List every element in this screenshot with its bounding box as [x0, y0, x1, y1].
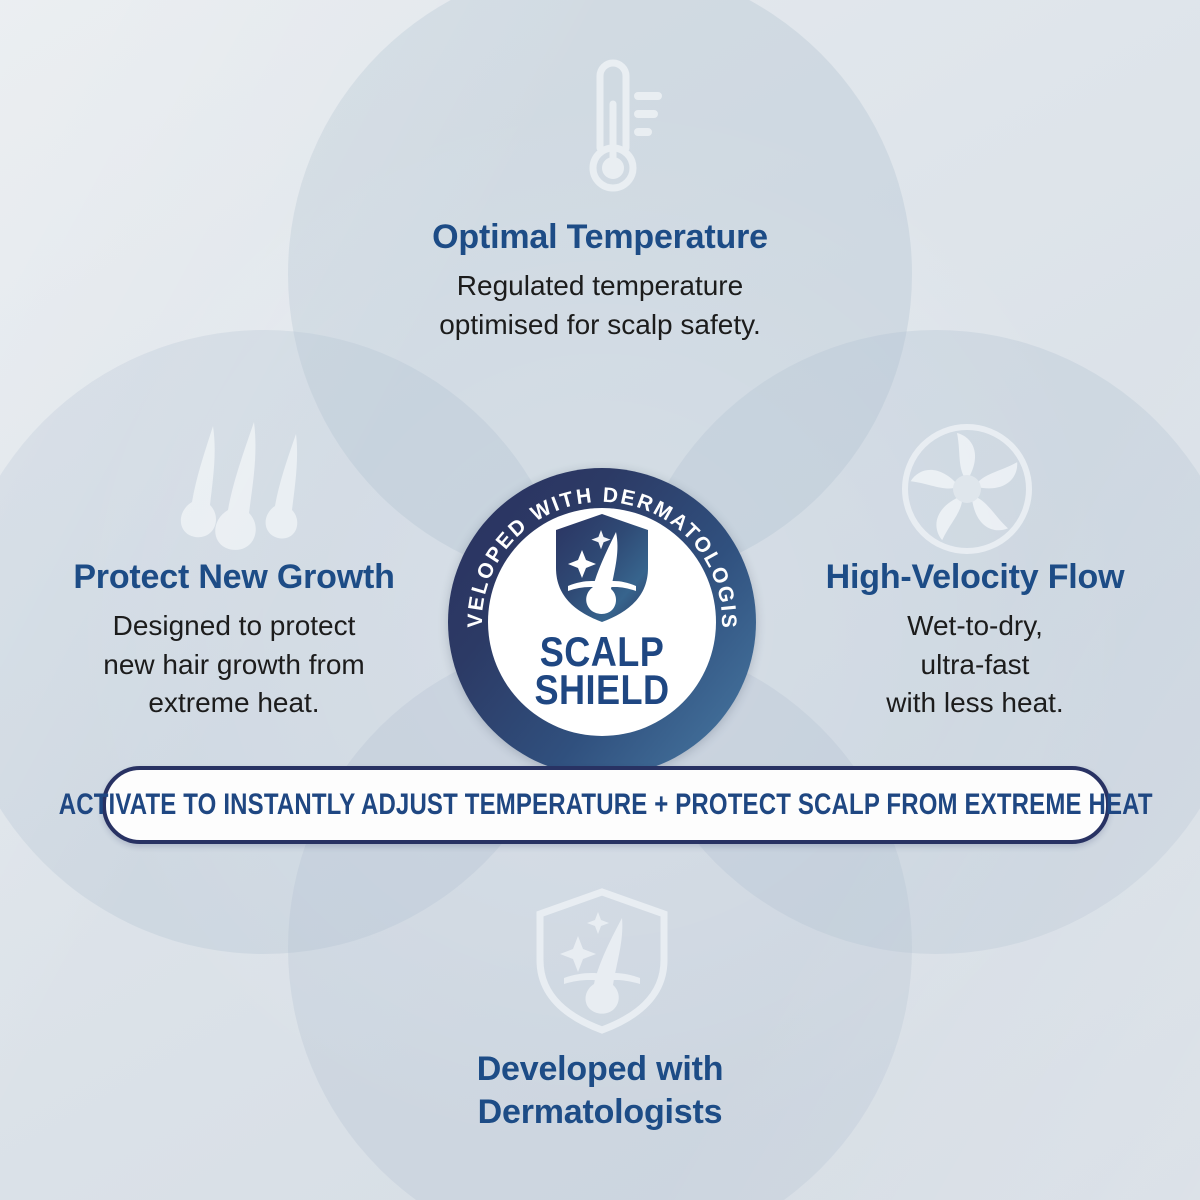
badge-wordmark-line2: SHIELD	[470, 666, 735, 714]
activate-banner-text: ACTIVATE TO INSTANTLY ADJUST TEMPERATURE…	[59, 788, 1153, 822]
feature-top-body: Regulated temperature optimised for scal…	[300, 267, 900, 343]
feature-block-right: High-Velocity Flow Wet-to-dry, ultra-fas…	[770, 558, 1180, 722]
feature-block-top: Optimal Temperature Regulated temperatur…	[300, 218, 900, 344]
feature-left-body-line: Designed to protect	[24, 607, 444, 645]
activate-banner[interactable]: ACTIVATE TO INSTANTLY ADJUST TEMPERATURE…	[102, 766, 1110, 844]
feature-left-body-line: new hair growth from	[24, 646, 444, 684]
feature-left-body: Designed to protect new hair growth from…	[24, 607, 444, 721]
feature-bottom-heading-line: Dermatologists	[300, 1091, 900, 1134]
feature-block-bottom: Developed with Dermatologists	[300, 1048, 900, 1144]
feature-top-heading: Optimal Temperature	[300, 218, 900, 257]
scalp-shield-badge: DEVELOPED WITH DERMATOLOGISTS STYLIST AP…	[448, 468, 756, 776]
feature-right-heading: High-Velocity Flow	[770, 558, 1180, 597]
feature-right-body-line: with less heat.	[770, 684, 1180, 722]
feature-right-body: Wet-to-dry, ultra-fast with less heat.	[770, 607, 1180, 721]
shield-follicle-icon	[528, 884, 676, 1036]
hair-follicle-icon	[172, 418, 312, 558]
feature-top-body-line: optimised for scalp safety.	[300, 306, 900, 344]
feature-left-heading: Protect New Growth	[24, 558, 444, 597]
shield-follicle-sparkle-icon	[552, 512, 652, 624]
infographic-canvas: Optimal Temperature Regulated temperatur…	[0, 0, 1200, 1200]
feature-right-body-line: ultra-fast	[770, 646, 1180, 684]
feature-top-body-line: Regulated temperature	[300, 267, 900, 305]
thermometer-icon	[556, 52, 664, 200]
feature-right-body-line: Wet-to-dry,	[770, 607, 1180, 645]
feature-bottom-heading: Developed with Dermatologists	[300, 1048, 900, 1134]
feature-block-left: Protect New Growth Designed to protect n…	[24, 558, 444, 722]
fan-icon	[898, 420, 1036, 558]
feature-bottom-heading-line: Developed with	[300, 1048, 900, 1091]
feature-left-body-line: extreme heat.	[24, 684, 444, 722]
